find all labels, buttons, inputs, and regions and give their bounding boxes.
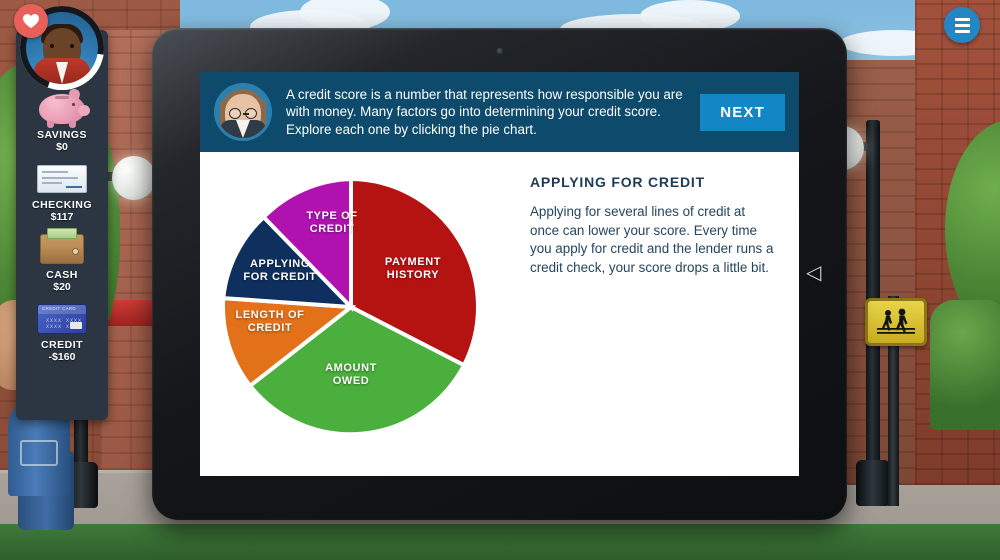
lesson-intro-text: A credit score is a number that represen…	[286, 86, 686, 139]
menu-line	[955, 18, 970, 21]
hud-item-label: CASH	[16, 269, 108, 281]
grass-strip	[0, 524, 1000, 560]
piggy-leg	[47, 121, 54, 128]
glasses-lens-icon	[229, 108, 241, 119]
tablet-device: A credit score is a number that represen…	[152, 28, 847, 520]
hud-item-cash[interactable]: CASH $20	[16, 232, 108, 293]
check-line	[42, 182, 62, 184]
hud-item-value: $20	[16, 281, 108, 293]
wallet-icon	[34, 232, 90, 266]
credit-factors-pie-chart[interactable]: PAYMENT HISTORY AMOUNT OWED LENGTH OF CR…	[218, 174, 480, 436]
hud-item-credit[interactable]: CREDIT CARD XXXX XXXX XXXX XXXX CREDIT -…	[16, 302, 108, 363]
credit-card-icon: CREDIT CARD XXXX XXXX XXXX XXXX	[34, 302, 90, 336]
info-panel-body: Applying for several lines of credit at …	[530, 203, 775, 277]
credit-card-chip	[70, 322, 82, 329]
piggy-eye	[72, 103, 75, 106]
lesson-header: A credit score is a number that represen…	[200, 72, 799, 152]
wallet-body	[40, 234, 84, 264]
hud-item-checking[interactable]: CHECKING $117	[16, 162, 108, 223]
lamp-post-base	[856, 460, 890, 506]
hedge	[930, 300, 1000, 430]
check-paper	[37, 165, 87, 193]
tutor-avatar-icon	[214, 83, 272, 141]
piggy-snout	[78, 105, 90, 116]
check-line	[42, 171, 68, 173]
piggy-bank-icon	[34, 92, 90, 126]
lesson-body: PAYMENT HISTORY AMOUNT OWED LENGTH OF CR…	[200, 152, 799, 476]
piggy-slot	[55, 96, 69, 99]
check-signature	[66, 186, 82, 188]
credit-card-title: CREDIT CARD	[42, 306, 76, 311]
hamburger-menu-icon[interactable]	[944, 7, 980, 43]
hud-item-value: -$160	[16, 351, 108, 363]
next-button[interactable]: NEXT	[700, 94, 785, 131]
piggy-leg	[69, 121, 76, 128]
hud-item-value: $117	[16, 211, 108, 223]
hud-item-savings[interactable]: SAVINGS $0	[16, 92, 108, 153]
mailbox-slot	[20, 440, 58, 466]
menu-line	[955, 30, 970, 33]
tablet-screen: A credit score is a number that represen…	[200, 72, 799, 476]
page-turn-icon[interactable]: ◁	[806, 260, 821, 285]
info-panel: APPLYING FOR CREDIT Applying for several…	[514, 168, 789, 466]
hud-item-label: CREDIT	[16, 339, 108, 351]
avatar-eye	[70, 44, 74, 48]
avatar[interactable]	[20, 6, 104, 90]
menu-line	[955, 24, 970, 27]
check-line	[42, 177, 78, 179]
info-panel-title: APPLYING FOR CREDIT	[530, 174, 775, 190]
pedestrian-crossing-sign-icon	[865, 298, 927, 346]
chart-column: PAYMENT HISTORY AMOUNT OWED LENGTH OF CR…	[210, 168, 508, 466]
hud-item-value: $0	[16, 141, 108, 153]
hud-item-label: CHECKING	[16, 199, 108, 211]
hud-item-list: SAVINGS $0 CHECKING $117	[16, 92, 108, 372]
player-hud-sidebar: SAVINGS $0 CHECKING $117	[16, 30, 108, 420]
credit-card-face: CREDIT CARD XXXX XXXX XXXX XXXX	[37, 304, 87, 334]
avatar-eye	[50, 44, 54, 48]
wallet-bills	[47, 228, 77, 239]
piggy-body	[39, 94, 85, 124]
wallet-clasp	[72, 248, 79, 255]
hud-item-label: SAVINGS	[16, 129, 108, 141]
check-icon	[34, 162, 90, 196]
lamp-globe	[112, 156, 156, 200]
glasses-bridge	[243, 113, 249, 115]
heart-icon	[14, 4, 48, 38]
